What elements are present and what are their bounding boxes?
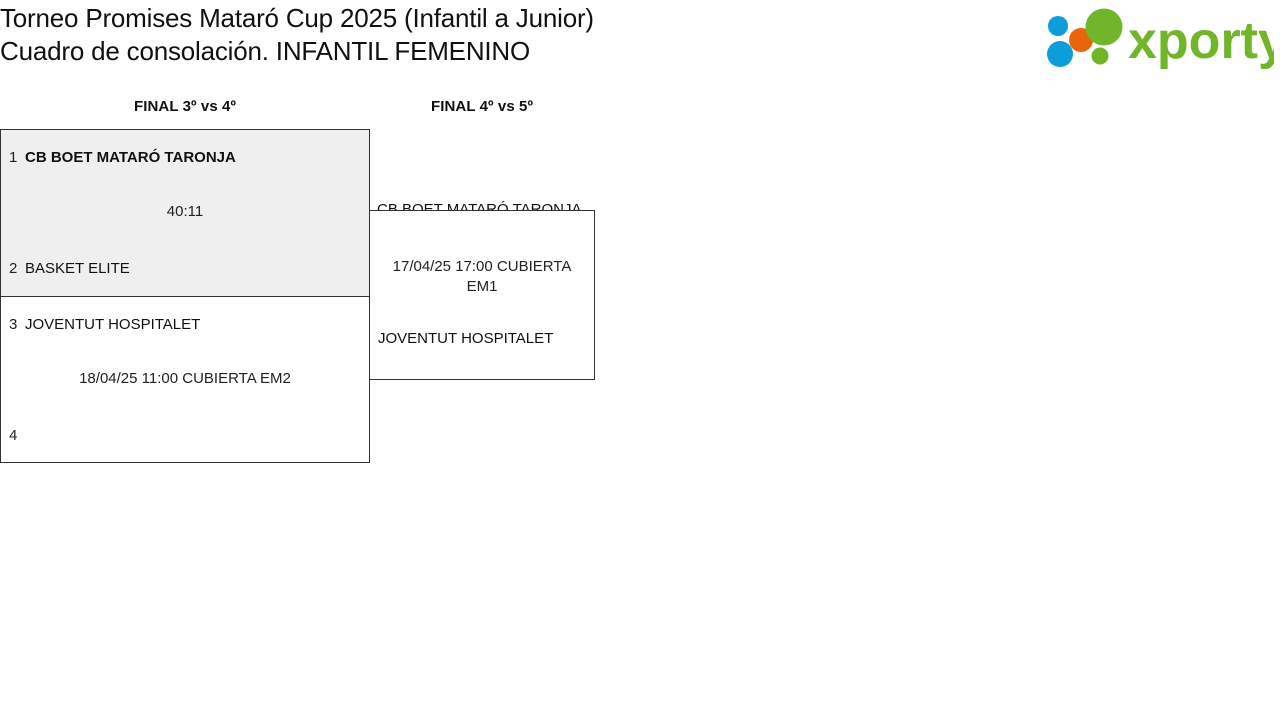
logo-wordmark: xporty <box>1128 12 1274 70</box>
bracket-subtitle: Cuadro de consolación. INFANTIL FEMENINO <box>0 35 900 68</box>
match-slot-top[interactable]: 3 JOVENTUT HOSPITALET <box>1 314 369 336</box>
logo-dot-blue-top <box>1048 16 1068 36</box>
match-schedule: 17/04/25 17:00 CUBIERTA EM1 <box>370 257 594 297</box>
seed-number: 3 <box>1 314 25 336</box>
match-slot-bottom[interactable]: JOVENTUT HOSPITALET <box>370 328 594 350</box>
page-header: Torneo Promises Mataró Cup 2025 (Infanti… <box>0 0 1280 80</box>
team-name: CB BOET MATARÓ TARONJA <box>25 147 236 169</box>
team-name: JOVENTUT HOSPITALET <box>378 328 553 350</box>
logo-dot-green-large <box>1086 9 1123 46</box>
team-name: BASKET ELITE <box>25 258 130 280</box>
match-slot-top[interactable] <box>370 227 594 249</box>
match-card[interactable]: 17/04/25 17:00 CUBIERTA EM1 JOVENTUT HOS… <box>369 210 595 380</box>
match-score: 40:11 <box>1 202 369 222</box>
round-header-final-4-5: FINAL 4º vs 5º <box>369 98 595 115</box>
match-slot-top[interactable]: 1 CB BOET MATARÓ TARONJA <box>1 147 369 169</box>
round-header-final-3-4: FINAL 3º vs 4º <box>0 98 370 115</box>
logo-dot-green-small <box>1092 48 1109 65</box>
match-card[interactable]: 1 CB BOET MATARÓ TARONJA 40:11 2 BASKET … <box>0 129 370 296</box>
team-name: JOVENTUT HOSPITALET <box>25 314 200 336</box>
match-slot-bottom[interactable]: 2 BASKET ELITE <box>1 258 369 280</box>
page-title: Torneo Promises Mataró Cup 2025 (Infanti… <box>0 2 900 68</box>
seed-number: 4 <box>1 425 25 447</box>
seed-number: 2 <box>1 258 25 280</box>
xporty-logo[interactable]: xporty <box>1042 4 1274 70</box>
round-final-4-5: CB BOET MATARÓ TARONJA 17/04/25 17:00 CU… <box>369 129 595 422</box>
match-card[interactable]: 3 JOVENTUT HOSPITALET 18/04/25 11:00 CUB… <box>0 296 370 463</box>
logo-dot-blue-bottom <box>1047 41 1073 67</box>
seed-number: 1 <box>1 147 25 169</box>
xporty-logo-svg: xporty <box>1042 4 1274 70</box>
match-slot-bottom[interactable]: 4 <box>1 425 369 447</box>
tournament-title: Torneo Promises Mataró Cup 2025 (Infanti… <box>0 2 900 35</box>
match-schedule: 18/04/25 11:00 CUBIERTA EM2 <box>1 369 369 389</box>
bracket-container: FINAL 3º vs 4º FINAL 4º vs 5º 1 CB BOET … <box>0 88 1280 727</box>
round-final-3-4: 1 CB BOET MATARÓ TARONJA 40:11 2 BASKET … <box>0 129 370 464</box>
